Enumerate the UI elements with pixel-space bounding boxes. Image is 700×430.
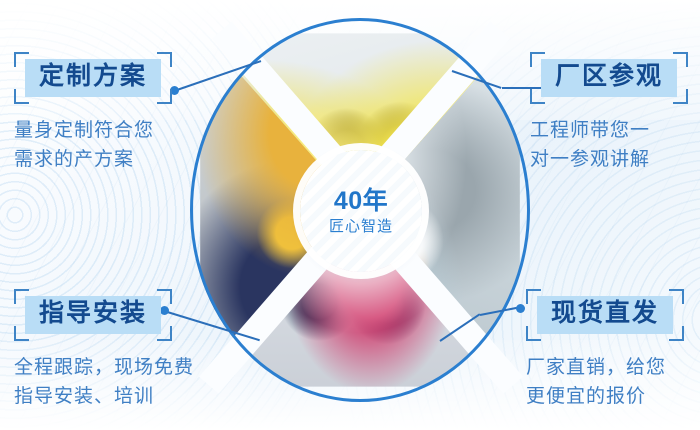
feature-description: 量身定制符合您 需求的产方案	[14, 116, 172, 175]
bracket-corner-top-right-icon	[673, 52, 688, 67]
bracket-corner-top-right-icon	[669, 289, 684, 304]
feature-factory-tour[interactable]: 厂区参观 工程师带您一 对一参观讲解	[530, 52, 688, 174]
infographic-canvas: 40年 匠心智造 定制方案 量身定制符合您 需求的产方案	[0, 0, 700, 430]
bracket-corner-bottom-left-icon	[14, 89, 29, 104]
feature-title-frame: 厂区参观	[530, 52, 688, 104]
bracket-corner-bottom-right-icon	[157, 89, 172, 104]
feature-installation-guidance[interactable]: 指导安装 全程跟踪，现场免费 指导安装、培训	[14, 289, 194, 411]
feature-description: 厂家直销，给您 更便宜的报价	[526, 353, 684, 412]
bracket-corner-bottom-left-icon	[526, 326, 541, 341]
feature-title-frame: 指导安装	[14, 289, 172, 341]
center-subline: 匠心智造	[329, 219, 393, 234]
bracket-corner-top-left-icon	[14, 52, 29, 67]
feature-description: 全程跟踪，现场免费 指导安装、培训	[14, 353, 194, 412]
bracket-corner-bottom-right-icon	[157, 326, 172, 341]
bracket-corner-top-left-icon	[526, 289, 541, 304]
bracket-corner-top-left-icon	[530, 52, 545, 67]
circular-photo-wheel: 40年 匠心智造	[190, 18, 530, 402]
bracket-corner-top-right-icon	[157, 52, 172, 67]
feature-in-stock-shipping[interactable]: 现货直发 厂家直销，给您 更便宜的报价	[526, 289, 684, 411]
bracket-corner-top-left-icon	[14, 289, 29, 304]
bracket-corner-bottom-right-icon	[673, 89, 688, 104]
feature-description: 工程师带您一 对一参观讲解	[530, 116, 688, 175]
center-headline: 40年	[334, 189, 388, 214]
bracket-corner-top-right-icon	[157, 289, 172, 304]
feature-title: 指导安装	[25, 296, 161, 334]
bracket-corner-bottom-right-icon	[669, 326, 684, 341]
feature-title: 厂区参观	[541, 59, 677, 97]
feature-title-frame: 现货直发	[526, 289, 684, 341]
feature-title: 现货直发	[537, 296, 673, 334]
bracket-corner-bottom-left-icon	[530, 89, 545, 104]
center-badge: 40年 匠心智造	[300, 150, 422, 272]
feature-title: 定制方案	[25, 59, 161, 97]
feature-custom-solution[interactable]: 定制方案 量身定制符合您 需求的产方案	[14, 52, 172, 174]
feature-title-frame: 定制方案	[14, 52, 172, 104]
bracket-corner-bottom-left-icon	[14, 326, 29, 341]
